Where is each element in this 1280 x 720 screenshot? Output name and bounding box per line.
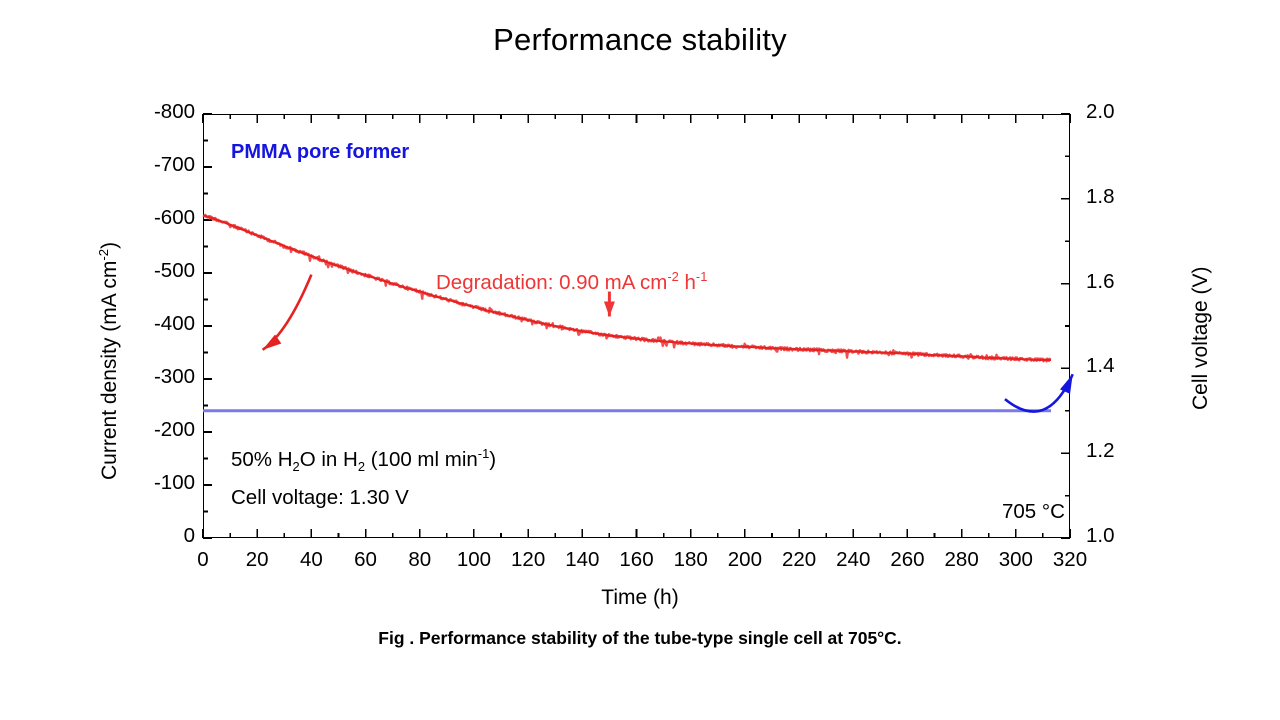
y2-tick-label: 1.6 [1086, 270, 1156, 294]
degradation-unit-h: h [679, 271, 696, 294]
y-tick-label: -600 [95, 206, 195, 230]
annotation-degradation: Degradation: 0.90 mA cm-2 h-1 [436, 269, 707, 295]
y-axis-title-text: Current density (mA cm [98, 261, 121, 480]
x-axis-title: Time (h) [0, 586, 1280, 610]
y2-tick-label: 1.4 [1086, 354, 1156, 378]
performance-stability-chart: 0-100-200-300-400-500-600-700-8001.01.21… [0, 0, 1280, 620]
annotation-pmma: PMMA pore former [231, 141, 409, 164]
annotation-arrow-line [1005, 374, 1073, 411]
y2-axis-title: Cell voltage (V) [1189, 266, 1213, 410]
gas-mid: O in H [300, 448, 358, 471]
y-tick-label: -700 [95, 153, 195, 177]
gas-flow: (100 ml min [365, 448, 478, 471]
figure-caption: Fig . Performance stability of the tube-… [0, 628, 1280, 649]
x-tick-label: 320 [1030, 548, 1110, 572]
y-axis-title-exponent: -2 [96, 249, 111, 261]
annotation-arrow-line [263, 275, 312, 350]
gas-sub-hydrogen: 2 [358, 459, 365, 474]
y2-tick-label: 1.0 [1086, 524, 1156, 548]
annotation-arrow-head [263, 334, 282, 349]
slide-canvas: Performance stability 0-100-200-300-400-… [0, 0, 1280, 720]
y-tick-label: 0 [95, 524, 195, 548]
gas-flow-exp: -1 [478, 446, 489, 461]
annotation-arrow-head [604, 301, 615, 316]
y2-tick-label: 2.0 [1086, 100, 1156, 124]
annotation-temperature: 705 °C [1002, 500, 1065, 524]
y-axis-title-close: ) [98, 242, 121, 249]
y2-tick-label: 1.8 [1086, 185, 1156, 209]
annotation-cell-voltage: Cell voltage: 1.30 V [231, 486, 409, 510]
gas-sub-water: 2 [293, 459, 300, 474]
degradation-text: Degradation: 0.90 mA cm [436, 271, 667, 294]
degradation-exp-h: -1 [696, 269, 707, 284]
annotation-gas-composition: 50% H2O in H2 (100 ml min-1) [231, 446, 496, 474]
y2-tick-label: 1.2 [1086, 439, 1156, 463]
y-axis-title: Current density (mA cm-2) [96, 242, 122, 480]
degradation-exp-cm: -2 [667, 269, 678, 284]
y-tick-label: -800 [95, 100, 195, 124]
gas-prefix: 50% H [231, 448, 293, 471]
gas-close-paren: ) [489, 448, 496, 471]
annotation-arrow-head [1060, 374, 1073, 394]
